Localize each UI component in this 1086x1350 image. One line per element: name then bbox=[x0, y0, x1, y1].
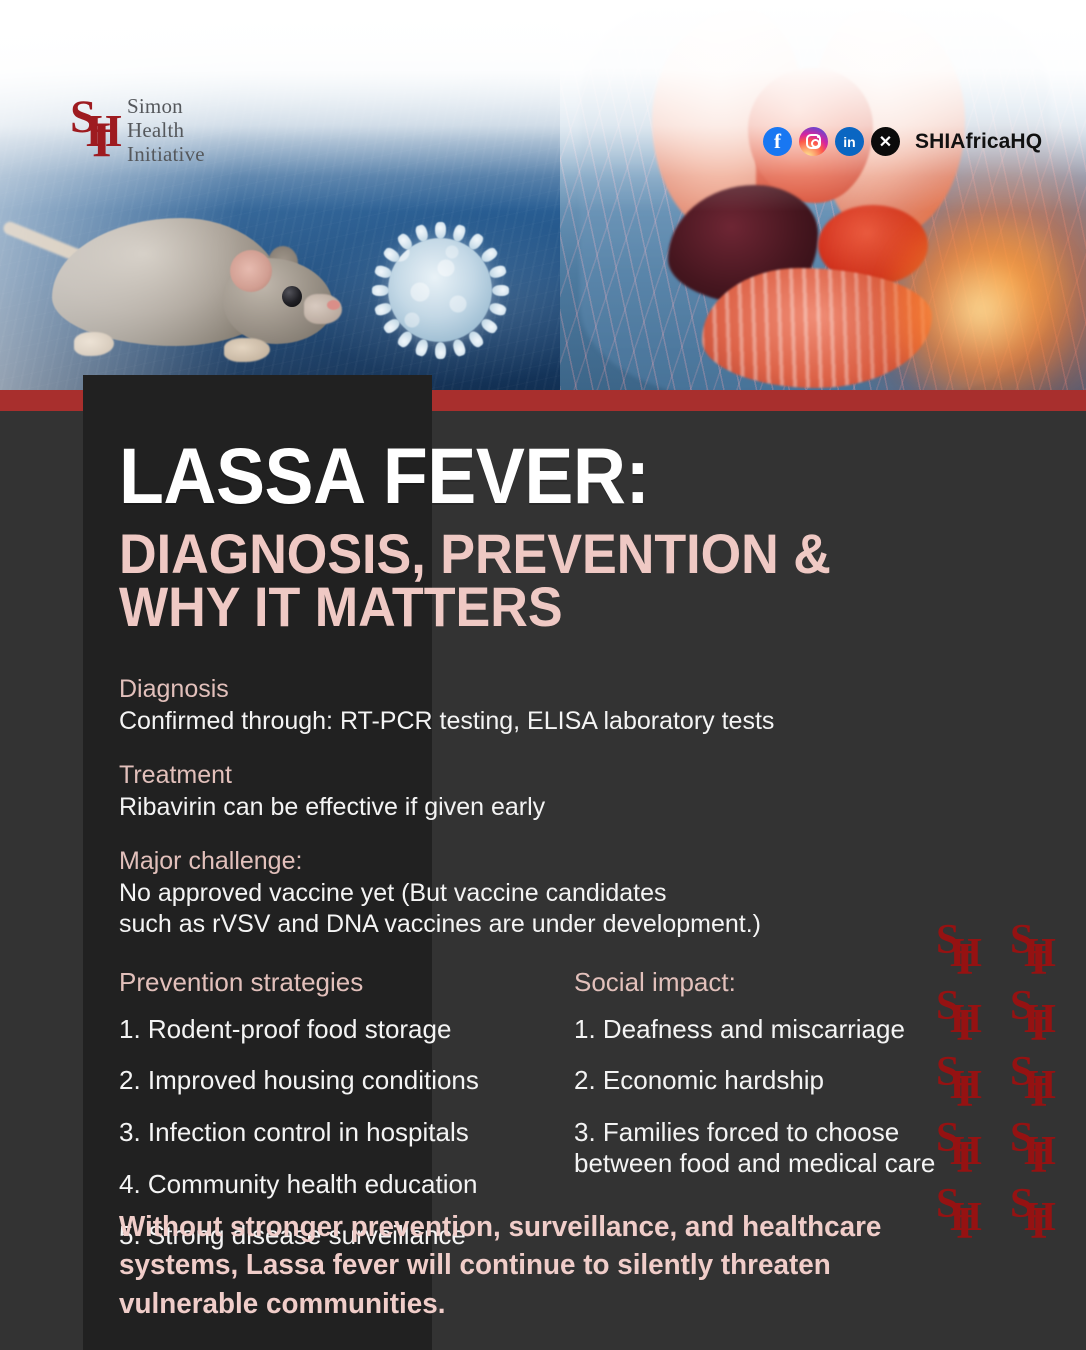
virus-spike bbox=[435, 222, 446, 239]
section-major-challenge: Major challenge: No approved vaccine yet… bbox=[119, 845, 979, 941]
social-impact-list-item: 1. Deafness and miscarriage bbox=[574, 1014, 964, 1045]
virus-spike bbox=[488, 264, 508, 280]
virus-spike bbox=[435, 342, 446, 359]
closing-statement: Without stronger prevention, surveillanc… bbox=[119, 1208, 916, 1323]
rodent-eye bbox=[282, 286, 302, 307]
shi-monogram-icon: S H I bbox=[70, 98, 116, 164]
social-handle-label: SHIAfricaHQ bbox=[915, 130, 1042, 154]
shi-watermark: SHI bbox=[1010, 1054, 1054, 1116]
subtitle-line-1: DIAGNOSIS, PREVENTION & bbox=[119, 527, 919, 580]
virus-spike bbox=[414, 338, 430, 358]
shi-watermark: SHI bbox=[1010, 988, 1054, 1050]
subtitle-line-2: WHY IT MATTERS bbox=[119, 580, 919, 633]
section-treatment-heading: Treatment bbox=[119, 759, 979, 792]
poster-content: LASSA FEVER: DIAGNOSIS, PREVENTION & WHY… bbox=[119, 440, 979, 1272]
section-major-challenge-body-line-2: such as rVSV and DNA vaccines are under … bbox=[119, 909, 979, 941]
page-subtitle: DIAGNOSIS, PREVENTION & WHY IT MATTERS bbox=[119, 527, 919, 633]
section-diagnosis-heading: Diagnosis bbox=[119, 673, 979, 706]
shi-watermark: SHI bbox=[1010, 1186, 1054, 1248]
prevention-heading: Prevention strategies bbox=[119, 967, 574, 998]
rodent-foot-rear bbox=[74, 332, 114, 356]
social-impact-list: 1. Deafness and miscarriage2. Economic h… bbox=[574, 1014, 964, 1179]
linkedin-icon[interactable]: in bbox=[835, 127, 864, 156]
section-major-challenge-body-line-1: No approved vaccine yet (But vaccine can… bbox=[119, 878, 979, 910]
social-impact-heading: Social impact: bbox=[574, 967, 964, 998]
rodent-photo bbox=[18, 200, 348, 380]
human-anatomy-illustration bbox=[560, 0, 1086, 392]
monogram-letter-i: I bbox=[92, 114, 111, 164]
shi-watermark: SHI bbox=[1010, 922, 1054, 984]
watermark-letter-i: I bbox=[1030, 937, 1048, 982]
social-impact-list-item: 3. Families forced to choose between foo… bbox=[574, 1117, 964, 1178]
facebook-icon[interactable]: f bbox=[763, 127, 792, 156]
logo-line-3: Initiative bbox=[127, 143, 205, 167]
infographic-poster: S H I Simon Health Initiative f in ✕ SHI… bbox=[0, 0, 1086, 1350]
brand-logo-text: Simon Health Initiative bbox=[127, 95, 205, 167]
instagram-icon[interactable] bbox=[799, 127, 828, 156]
prevention-list-item: 3. Infection control in hospitals bbox=[119, 1117, 574, 1148]
virus-spike bbox=[492, 285, 509, 296]
virus-spike bbox=[451, 224, 467, 244]
rodent-ear-near bbox=[230, 250, 272, 292]
virus-spike bbox=[374, 301, 394, 317]
virus-core bbox=[388, 238, 492, 342]
watermark-letter-i: I bbox=[1030, 1135, 1048, 1180]
logo-line-2: Health bbox=[127, 119, 205, 143]
page-title: LASSA FEVER: bbox=[119, 440, 919, 513]
prevention-list-item: 2. Improved housing conditions bbox=[119, 1065, 574, 1096]
virus-particle-icon bbox=[370, 220, 510, 360]
rodent-nose bbox=[327, 300, 340, 310]
watermark-letter-i: I bbox=[1030, 1003, 1048, 1048]
header-image-band: S H I Simon Health Initiative f in ✕ SHI… bbox=[0, 0, 1086, 392]
prevention-list-item: 4. Community health education bbox=[119, 1169, 574, 1200]
brand-logo: S H I Simon Health Initiative bbox=[70, 95, 205, 167]
warm-glow-effect-secondary bbox=[886, 200, 1076, 392]
watermark-letter-i: I bbox=[1030, 1069, 1048, 1114]
section-diagnosis-body: Confirmed through: RT-PCR testing, ELISA… bbox=[119, 706, 979, 738]
section-diagnosis: Diagnosis Confirmed through: RT-PCR test… bbox=[119, 673, 979, 737]
virus-spike bbox=[488, 301, 508, 317]
section-treatment-body: Ribavirin can be effective if given earl… bbox=[119, 792, 979, 824]
watermark-letter-i: I bbox=[1030, 1201, 1048, 1246]
shi-watermark: SHI bbox=[1010, 1120, 1054, 1182]
section-treatment: Treatment Ribavirin can be effective if … bbox=[119, 759, 979, 823]
virus-spike bbox=[451, 338, 467, 358]
social-impact-list-item: 2. Economic hardship bbox=[574, 1065, 964, 1096]
prevention-list-item: 1. Rodent-proof food storage bbox=[119, 1014, 574, 1045]
rodent-foot-front bbox=[224, 338, 270, 362]
logo-line-1: Simon bbox=[127, 95, 205, 119]
section-major-challenge-heading: Major challenge: bbox=[119, 845, 979, 878]
info-sections: Diagnosis Confirmed through: RT-PCR test… bbox=[119, 673, 979, 941]
virus-spike bbox=[466, 329, 485, 349]
social-links[interactable]: f in ✕ SHIAfricaHQ bbox=[763, 127, 1042, 156]
instagram-camera-glyph bbox=[806, 134, 821, 149]
x-twitter-icon[interactable]: ✕ bbox=[871, 127, 900, 156]
virus-spike bbox=[372, 285, 389, 296]
virus-spike bbox=[479, 316, 499, 335]
